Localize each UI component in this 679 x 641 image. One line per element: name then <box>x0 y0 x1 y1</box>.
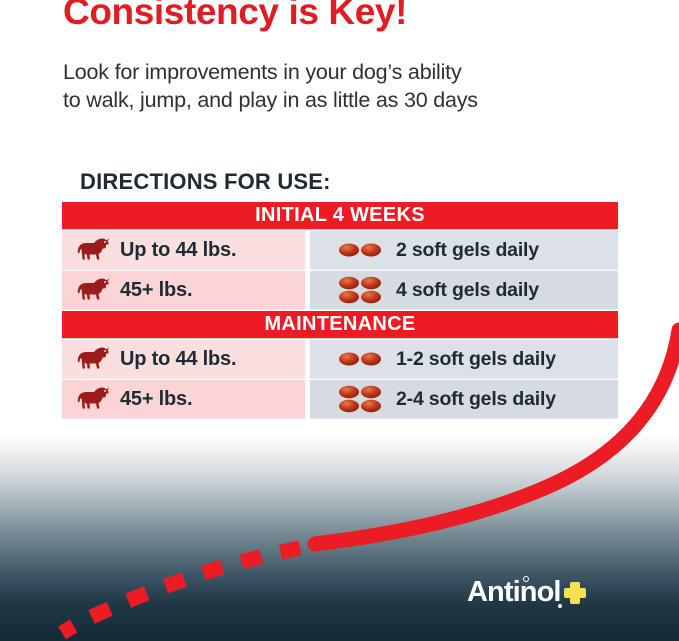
weight-label: 45+ lbs. <box>120 388 192 411</box>
subheadline: Look for improvements in your dog’s abil… <box>63 58 643 114</box>
table-row: Up to 44 lbs. 1-2 soft gels daily <box>62 340 618 378</box>
table-row: Up to 44 lbs. 2 soft gels daily <box>62 231 618 269</box>
brand-logo-text: Antinol <box>467 576 561 608</box>
table-row: 45+ lbs. 4 soft gels da <box>62 271 618 309</box>
weight-cell: 45+ lbs. <box>62 271 305 309</box>
weight-label: 45+ lbs. <box>120 279 192 302</box>
dog-icon <box>76 386 110 412</box>
softgel-icon <box>338 384 382 414</box>
dose-cell: 4 soft gels daily <box>310 271 618 309</box>
softgel-icon <box>338 235 382 265</box>
dose-label: 2 soft gels daily <box>396 239 539 262</box>
subheadline-line-2: to walk, jump, and play in as little as … <box>63 86 643 114</box>
table-row: 45+ lbs. 2-4 soft gels <box>62 380 618 418</box>
dose-label: 2-4 soft gels daily <box>396 388 556 411</box>
dose-cell: 1-2 soft gels daily <box>310 340 618 378</box>
weight-label: Up to 44 lbs. <box>120 239 236 262</box>
brand-logo: Antinol <box>467 576 587 609</box>
subheadline-line-1: Look for improvements in your dog’s abil… <box>63 58 643 86</box>
softgel-icon <box>338 344 382 374</box>
dose-cell: 2-4 soft gels daily <box>310 380 618 418</box>
dose-label: 1-2 soft gels daily <box>396 348 556 371</box>
promo-canvas: Consistency is Key! Look for improvement… <box>0 0 679 641</box>
weight-cell: 45+ lbs. <box>62 380 305 418</box>
logo-dot-accent <box>523 576 529 582</box>
dose-cell: 2 soft gels daily <box>310 231 618 269</box>
brand-logo-wordmark: Antinol <box>467 576 561 609</box>
dosage-table: INITIAL 4 WEEKS Up to 44 lbs. <box>62 202 618 420</box>
softgel-icon <box>338 275 382 305</box>
dog-icon <box>76 237 110 263</box>
dose-label: 4 soft gels daily <box>396 279 539 302</box>
weight-cell: Up to 44 lbs. <box>62 340 305 378</box>
weight-cell: Up to 44 lbs. <box>62 231 305 269</box>
section-band-initial: INITIAL 4 WEEKS <box>62 202 618 229</box>
directions-title: DIRECTIONS FOR USE: <box>80 169 331 195</box>
dog-icon <box>76 277 110 303</box>
section-band-maintenance: MAINTENANCE <box>62 311 618 338</box>
headline: Consistency is Key! <box>63 0 407 33</box>
plus-icon <box>563 581 587 605</box>
dog-icon <box>76 346 110 372</box>
logo-registered-dot <box>558 604 562 608</box>
weight-label: Up to 44 lbs. <box>120 348 236 371</box>
